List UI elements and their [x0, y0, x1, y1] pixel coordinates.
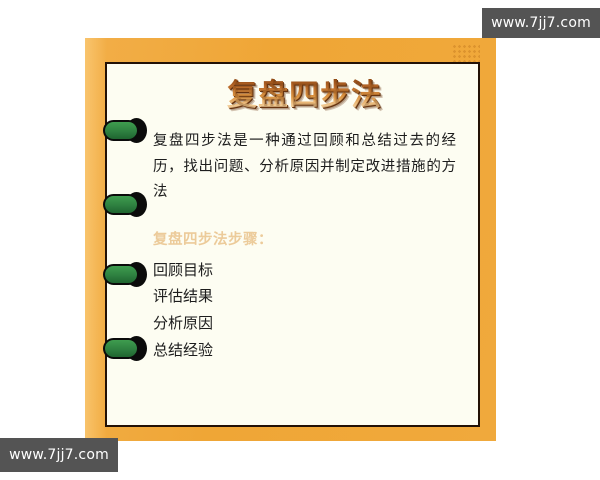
page-title: 复盘四步法	[153, 78, 456, 113]
watermark-top-right: www.7jj7.com	[482, 8, 600, 38]
binder-ring-band-icon	[103, 120, 139, 141]
steps-heading: 复盘四步法步骤：	[153, 228, 456, 249]
binder-ring-band-icon	[103, 264, 139, 285]
watermark-bottom-left: www.7jj7.com	[0, 438, 118, 472]
list-item: 回顾目标	[153, 257, 456, 284]
binder-ring-3	[103, 264, 147, 285]
binder-ring-band-icon	[103, 338, 139, 359]
note-page: 复盘四步法 复盘四步法是一种通过回顾和总结过去的经历，找出问题、分析原因并制定改…	[105, 62, 480, 427]
dot-grid-decoration	[452, 44, 480, 62]
note-page-content: 复盘四步法 复盘四步法是一种通过回顾和总结过去的经历，找出问题、分析原因并制定改…	[107, 64, 478, 425]
list-item: 总结经验	[153, 337, 456, 364]
binder-ring-2	[103, 194, 147, 215]
steps-list: 回顾目标 评估结果 分析原因 总结经验	[153, 257, 456, 364]
binder-ring-1	[103, 120, 147, 141]
list-item: 分析原因	[153, 310, 456, 337]
cover-highlight	[85, 38, 107, 441]
list-item: 评估结果	[153, 283, 456, 310]
binder-ring-4	[103, 338, 147, 359]
description-paragraph: 复盘四步法是一种通过回顾和总结过去的经历，找出问题、分析原因并制定改进措施的方法	[153, 129, 456, 205]
binder-ring-band-icon	[103, 194, 139, 215]
